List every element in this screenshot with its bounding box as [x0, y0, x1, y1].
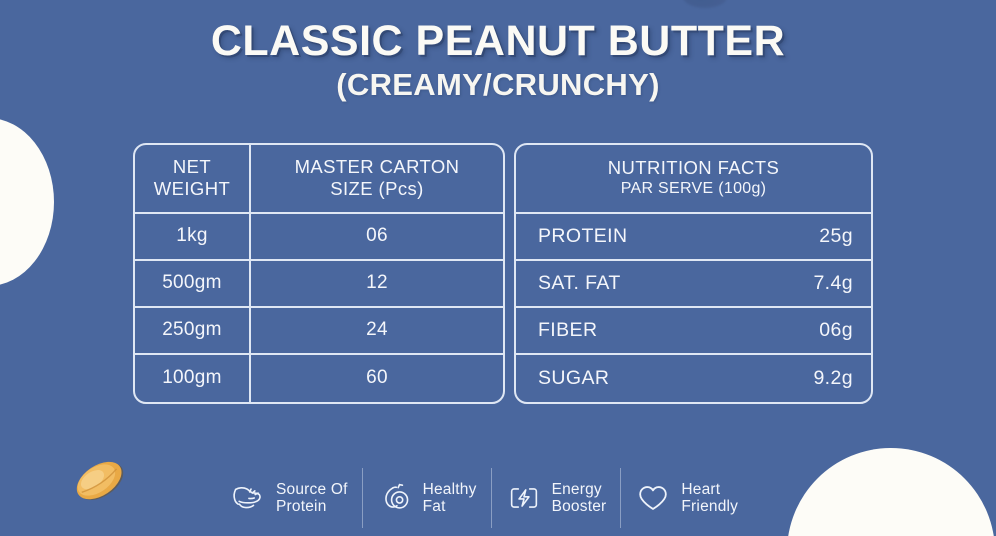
cream-circle-bottom-right — [787, 448, 995, 536]
net-weight-label-line2: WEIGHT — [154, 178, 230, 200]
badge-label: Source Of Protein — [276, 481, 348, 516]
nutrition-subtitle: PAR SERVE (100g) — [621, 179, 767, 199]
nutrient-value: 7.4g — [813, 272, 853, 295]
page-title: CLASSIC PEANUT BUTTER — [0, 17, 996, 65]
nutrient-value: 9.2g — [813, 367, 853, 390]
net-weight-value: 250gm — [162, 319, 222, 341]
battery-bolt-icon — [505, 479, 543, 517]
badge-label-line1: Energy — [552, 481, 607, 499]
badge-label-line1: Healthy — [423, 481, 477, 499]
cell-net-weight: 100gm — [135, 355, 251, 402]
column-header-net-weight: NET WEIGHT — [135, 145, 251, 212]
nutrition-row: SAT. FAT 7.4g — [516, 261, 871, 308]
badge-label: Healthy Fat — [423, 481, 477, 516]
nutrient-label: SUGAR — [538, 367, 609, 390]
table-row: 250gm 24 — [135, 308, 503, 355]
carton-pcs-value: 06 — [366, 225, 388, 247]
net-weight-label-line1: NET — [173, 156, 211, 178]
carton-pcs-value: 60 — [366, 367, 388, 389]
table-row: 1kg 06 — [135, 214, 503, 261]
nutrient-label: PROTEIN — [538, 225, 627, 248]
carton-pcs-value: 12 — [366, 272, 388, 294]
flexed-bicep-icon — [229, 479, 267, 517]
nutrition-header: NUTRITION FACTS PAR SERVE (100g) — [516, 145, 871, 212]
badge-heart-friendly: Heart Friendly — [620, 465, 752, 531]
cell-net-weight: 250gm — [135, 308, 251, 353]
peanut-shadow-top-edge — [683, 0, 727, 8]
column-header-master-carton-size: MASTER CARTON SIZE (Pcs) — [251, 145, 503, 212]
badge-healthy-fat: Healthy Fat — [362, 465, 491, 531]
nutrient-label: FIBER — [538, 319, 597, 342]
nutrition-facts-table: NUTRITION FACTS PAR SERVE (100g) PROTEIN… — [514, 143, 873, 404]
net-weight-value: 100gm — [162, 367, 222, 389]
badge-energy-booster: Energy Booster — [491, 465, 621, 531]
badge-label-line2: Friendly — [681, 498, 738, 516]
product-headline: CLASSIC PEANUT BUTTER (CREAMY/CRUNCHY) — [0, 17, 996, 103]
net-weight-value: 500gm — [162, 272, 222, 294]
page-subtitle: (CREAMY/CRUNCHY) — [0, 67, 996, 103]
cell-carton-pcs: 06 — [251, 214, 503, 259]
cell-carton-pcs: 60 — [251, 355, 503, 402]
badge-label: Heart Friendly — [681, 481, 738, 516]
avocado-icon — [376, 479, 414, 517]
nutrition-header-row: NUTRITION FACTS PAR SERVE (100g) — [516, 145, 871, 214]
cell-carton-pcs: 24 — [251, 308, 503, 353]
cream-circle-left — [0, 118, 54, 286]
nutrition-row: PROTEIN 25g — [516, 214, 871, 261]
carton-size-table: NET WEIGHT MASTER CARTON SIZE (Pcs) 1kg … — [133, 143, 505, 404]
heart-icon — [634, 479, 672, 517]
nutrient-value: 25g — [819, 225, 853, 248]
table-row: 500gm 12 — [135, 261, 503, 308]
nutrition-row: FIBER 06g — [516, 308, 871, 355]
badge-label-line1: Source Of — [276, 481, 348, 499]
badge-label-line2: Fat — [423, 498, 477, 516]
table-header-row: NET WEIGHT MASTER CARTON SIZE (Pcs) — [135, 145, 503, 214]
badge-label-line2: Booster — [552, 498, 607, 516]
benefit-badge-strip: Source Of Protein Healthy Fat — [215, 465, 785, 531]
carton-label-line2: SIZE (Pcs) — [330, 178, 423, 200]
nutrition-row: SUGAR 9.2g — [516, 355, 871, 402]
peanut-kernel-illustration — [69, 449, 131, 511]
nutrition-title: NUTRITION FACTS — [608, 157, 779, 179]
table-row: 100gm 60 — [135, 355, 503, 402]
badge-source-of-protein: Source Of Protein — [215, 465, 362, 531]
badge-label-line2: Protein — [276, 498, 348, 516]
spec-tables: NET WEIGHT MASTER CARTON SIZE (Pcs) 1kg … — [133, 143, 873, 404]
nutrient-label: SAT. FAT — [538, 272, 621, 295]
carton-pcs-value: 24 — [366, 319, 388, 341]
nutrient-value: 06g — [819, 319, 853, 342]
net-weight-value: 1kg — [176, 225, 208, 247]
badge-label-line1: Heart — [681, 481, 738, 499]
cell-net-weight: 500gm — [135, 261, 251, 306]
cell-net-weight: 1kg — [135, 214, 251, 259]
carton-label-line1: MASTER CARTON — [295, 156, 460, 178]
cell-carton-pcs: 12 — [251, 261, 503, 306]
badge-label: Energy Booster — [552, 481, 607, 516]
